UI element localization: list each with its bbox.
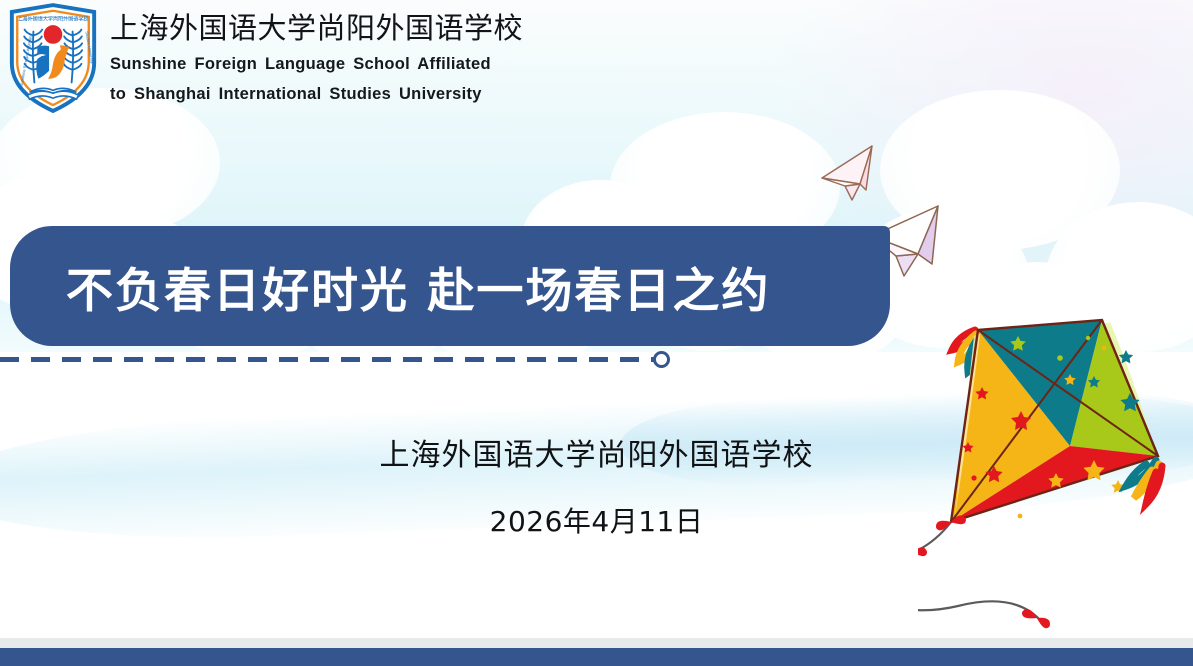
presentation-slide: 上海外国语大学尚阳外国语学校 Sunshine Foreign Language… — [0, 0, 1193, 666]
divider-end-circle — [653, 351, 670, 368]
footer-gray-strip — [0, 638, 1193, 648]
bow-tie — [918, 546, 928, 560]
school-name-chinese: 上海外国语大学尚阳外国语学校 — [110, 12, 523, 47]
svg-text:上海外国语大学尚阳外国语学校: 上海外国语大学尚阳外国语学校 — [17, 16, 88, 23]
dashed-divider — [0, 357, 655, 362]
paper-airplane-pink — [822, 146, 872, 200]
kite-body — [951, 320, 1158, 522]
school-name-block: 上海外国语大学尚阳外国语学校 Sunshine Foreign Language… — [110, 12, 523, 108]
slide-header: 上海外国语大学尚阳外国语学校 Sunshine Foreign Language… — [0, 0, 523, 114]
footer-blue-bar — [0, 648, 1193, 666]
slide-title: 不负春日好时光 赴一场春日之约 — [66, 252, 770, 321]
school-name-english-line2: to Shanghai International Studies Univer… — [110, 82, 523, 107]
bow-tie — [1020, 607, 1052, 629]
title-banner: 不负春日好时光 赴一场春日之约 — [10, 226, 890, 346]
kite-illustration — [918, 288, 1193, 666]
school-name-english-line1: Sunshine Foreign Language School Affilia… — [110, 52, 523, 77]
kite-ribbon-bottom — [1126, 460, 1162, 504]
school-crest-logo: 上海外国语大学尚阳外国语学校 Sunshine Foreign Language… — [4, 2, 102, 114]
kite-string-with-bows — [918, 513, 1052, 629]
